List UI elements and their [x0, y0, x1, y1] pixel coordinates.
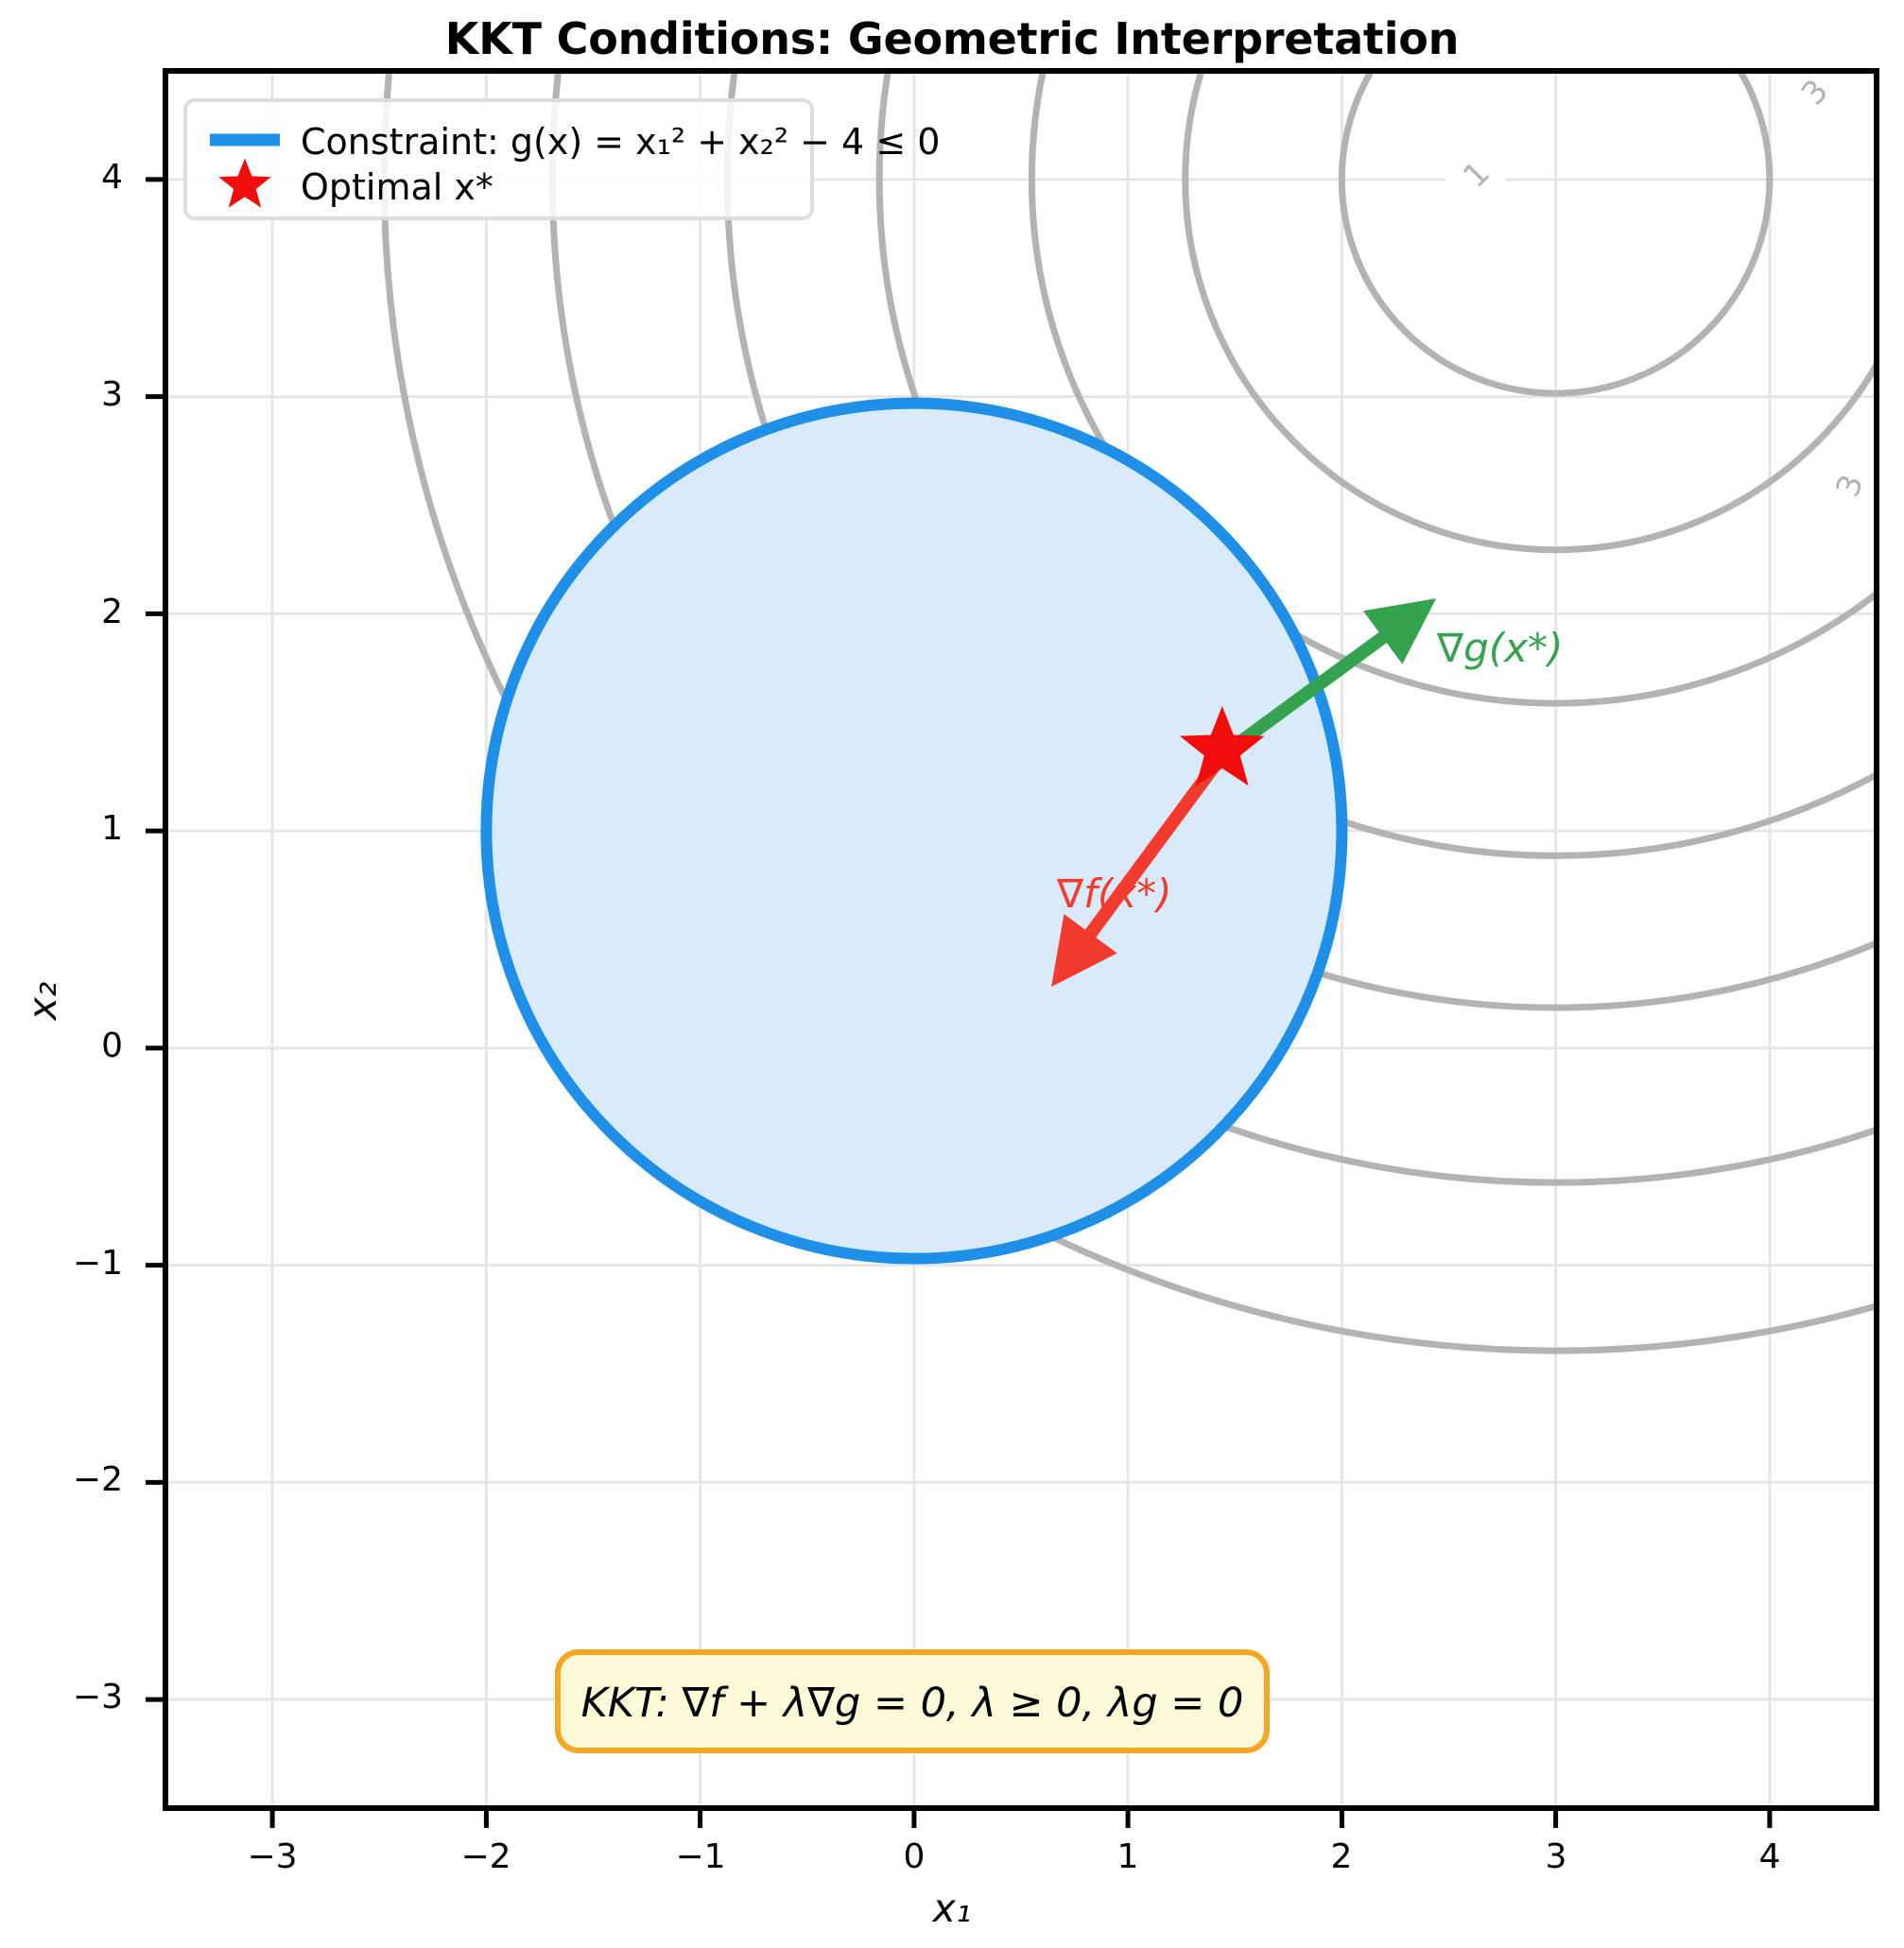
xtick-label--2: −2	[429, 1837, 543, 1876]
ytick-label-3: 3	[9, 375, 123, 414]
xtick-label-2: 2	[1285, 1837, 1398, 1876]
constraint-region	[486, 404, 1341, 1259]
chart-figure: KKT Conditions: Geometric Interpretation	[0, 0, 1904, 1948]
x-axis-label: x₁	[0, 1886, 1904, 1931]
ytick-label-1: 1	[9, 809, 123, 848]
kkt-annotation-text: KKT: ∇f + λ∇g = 0, λ ≥ 0, λg = 0	[581, 1680, 1244, 1727]
kkt-annotation: KKT: ∇f + λ∇g = 0, λ ≥ 0, λg = 0	[558, 1652, 1267, 1750]
ytick-label--3: −3	[9, 1678, 123, 1716]
xtick-label-4: 4	[1713, 1837, 1826, 1876]
xtick-label-3: 3	[1499, 1837, 1613, 1876]
y-axis-label: x₂	[20, 925, 65, 1077]
plot-area: 1 3 3 6 10 15 22 30 ∇g(x*) ∇f(x*)	[0, 0, 1904, 1948]
gradient-g-label: ∇g(x*)	[1436, 625, 1563, 671]
xtick-label-0: 0	[857, 1837, 971, 1876]
legend-label-constraint: Constraint: g(x) = x₁² + x₂² − 4 ≤ 0	[301, 121, 940, 163]
ytick-label-4: 4	[9, 158, 123, 197]
ytick-label--2: −2	[9, 1460, 123, 1499]
gradient-f-label: ∇f(x*)	[1056, 871, 1172, 917]
ytick-label-2: 2	[9, 593, 123, 631]
xtick-label--3: −3	[216, 1837, 329, 1876]
legend-label-optimal: Optimal x*	[301, 166, 493, 208]
xtick-label--1: −1	[644, 1837, 757, 1876]
xtick-label-1: 1	[1071, 1837, 1185, 1876]
ytick-label--1: −1	[9, 1244, 123, 1283]
